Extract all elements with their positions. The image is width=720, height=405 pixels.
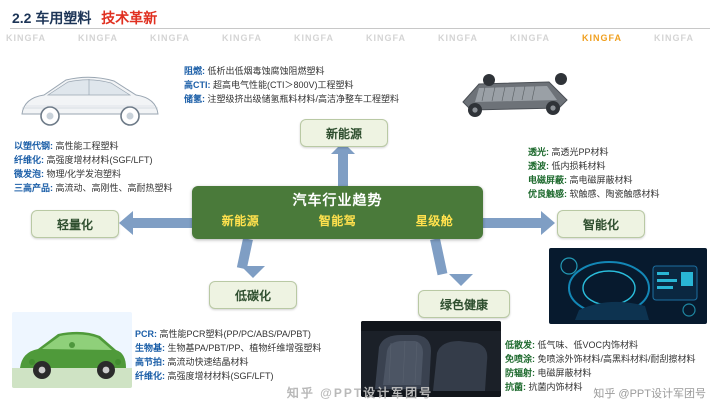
text-row-value: 高透光PP材料	[552, 147, 609, 157]
hub-tag-0: 新能源	[222, 212, 260, 229]
watermark-8: KINGFA	[582, 33, 622, 43]
text-block-intelligent: 透光: 高透光PP材料透波: 低内损耗材料电磁屏蔽: 高电磁屏蔽材料优良触感: …	[528, 145, 660, 201]
text-row-value: 生物基PA/PBT/PP、植物纤维增强塑料	[168, 343, 322, 353]
arrow-hub-to-intelligent	[483, 218, 541, 228]
arrow-hub-to-green-health	[430, 238, 447, 275]
text-row-value: 高电磁屏蔽材料	[570, 175, 633, 185]
text-row-key: 高CTI:	[184, 80, 213, 90]
hub-title: 汽车行业趋势	[192, 190, 483, 210]
text-row-key: 电磁屏蔽:	[528, 175, 570, 185]
node-new-energy[interactable]: 新能源	[300, 119, 388, 147]
node-label: 智能化	[583, 216, 619, 233]
watermark-2: KINGFA	[150, 33, 190, 43]
node-label: 轻量化	[57, 216, 93, 233]
text-row-value: 高强度增材材料(SGF/LFT)	[168, 371, 274, 381]
image-ev-chassis	[449, 62, 579, 124]
watermark-5: KINGFA	[366, 33, 406, 43]
text-row-key: 低散发:	[505, 340, 538, 350]
watermark-0: KINGFA	[6, 33, 46, 43]
text-row-key: 纤维化:	[135, 371, 168, 381]
hub-tag-2: 星级舱	[416, 212, 454, 229]
section-number: 2.2	[12, 10, 31, 26]
arrowhead-intelligent	[541, 211, 555, 235]
text-row-key: PCR:	[135, 329, 160, 339]
text-row: 优良触感: 软触感、陶瓷触感材料	[528, 187, 660, 201]
text-row: 高CTI: 超高电气性能(CTI＞800V)工程塑料	[184, 78, 399, 92]
image-car-wireframe	[14, 62, 164, 132]
node-label: 新能源	[326, 125, 362, 142]
zhihu-credit: 知乎 @PPT设计军团号	[593, 385, 706, 401]
node-label: 绿色健康	[440, 296, 488, 313]
text-row-value: 高流动快速结晶材料	[168, 357, 249, 367]
text-row-value: 高流动、高刚性、高耐热塑料	[56, 183, 173, 193]
node-low-carbon[interactable]: 低碳化	[209, 281, 297, 309]
text-row: 高节拍: 高流动快速结晶材料	[135, 355, 321, 369]
arrow-hub-to-low-carbon	[237, 238, 253, 269]
text-row: 纤维化: 高强度增材材料(SGF/LFT)	[14, 153, 173, 167]
text-row: 微发泡: 物理/化学发泡塑料	[14, 167, 173, 181]
node-green-health[interactable]: 绿色健康	[418, 290, 510, 318]
text-row-value: 物理/化学发泡塑料	[47, 169, 122, 179]
text-row: 阻燃: 低析出低烟毒蚀腐蚀阻燃塑料	[184, 64, 399, 78]
center-hub: 汽车行业趋势 新能源 智能驾 星级舱	[192, 186, 483, 239]
text-row-value: 高性能工程塑料	[56, 141, 119, 151]
text-row-value: 免喷涂外饰材料/高黑料材料/耐刮擦材料	[538, 354, 696, 364]
title-divider	[10, 28, 710, 29]
text-row-key: 阻燃:	[184, 66, 208, 76]
page-title: 2.2 车用塑料 技术革新	[12, 8, 157, 28]
watermark-4: KINGFA	[294, 33, 334, 43]
text-row-key: 高节拍:	[135, 357, 168, 367]
title-main: 车用塑料	[35, 10, 91, 26]
arrowhead-lightweight	[119, 211, 133, 235]
watermark-9: KINGFA	[654, 33, 694, 43]
image-hud-cockpit	[549, 248, 707, 324]
text-block-low-carbon: PCR: 高性能PCR塑料(PP/PC/ABS/PA/PBT)生物基: 生物基P…	[135, 327, 321, 383]
watermark-7: KINGFA	[510, 33, 550, 43]
text-row-value: 高性能PCR塑料(PP/PC/ABS/PA/PBT)	[160, 329, 311, 339]
text-row: PCR: 高性能PCR塑料(PP/PC/ABS/PA/PBT)	[135, 327, 321, 341]
text-row-key: 以塑代钢:	[14, 141, 56, 151]
text-row-key: 生物基:	[135, 343, 168, 353]
text-row: 纤维化: 高强度增材材料(SGF/LFT)	[135, 369, 321, 383]
text-row: 防辐射: 电磁屏蔽材料	[505, 366, 696, 380]
hub-tag-1: 智能驾	[319, 212, 357, 229]
text-row-value: 超高电气性能(CTI＞800V)工程塑料	[213, 80, 354, 90]
arrowhead-low-carbon	[241, 266, 265, 278]
text-row-key: 防辐射:	[505, 368, 538, 378]
image-green-grass-car	[12, 312, 132, 388]
text-row: 三高产品: 高流动、高刚性、高耐热塑料	[14, 181, 173, 195]
arrow-hub-to-new-energy	[338, 152, 348, 186]
text-block-new-energy: 阻燃: 低析出低烟毒蚀腐蚀阻燃塑料高CTI: 超高电气性能(CTI＞800V)工…	[184, 64, 399, 106]
watermark-3: KINGFA	[222, 33, 262, 43]
text-row-value: 软触感、陶瓷触感材料	[570, 189, 660, 199]
arrow-hub-to-lightweight	[133, 218, 192, 228]
text-row-value: 低内损耗材料	[552, 161, 606, 171]
title-highlight: 技术革新	[101, 10, 157, 26]
text-row-value: 高强度增材材料(SGF/LFT)	[47, 155, 153, 165]
node-lightweight[interactable]: 轻量化	[31, 210, 119, 238]
hub-tags: 新能源 智能驾 星级舱	[192, 212, 483, 229]
text-row-key: 纤维化:	[14, 155, 47, 165]
text-row-key: 微发泡:	[14, 169, 47, 179]
text-row-key: 免喷涂:	[505, 354, 538, 364]
text-row-value: 电磁屏蔽材料	[538, 368, 592, 378]
text-row-key: 透波:	[528, 161, 552, 171]
text-row: 免喷涂: 免喷涂外饰材料/高黑料材料/耐刮擦材料	[505, 352, 696, 366]
text-row-key: 储氢:	[184, 94, 208, 104]
text-row-key: 透光:	[528, 147, 552, 157]
text-row: 生物基: 生物基PA/PBT/PP、植物纤维增强塑料	[135, 341, 321, 355]
text-row-value: 低析出低烟毒蚀腐蚀阻燃塑料	[208, 66, 325, 76]
text-row-value: 低气味、低VOC内饰材料	[538, 340, 639, 350]
slide-root: 2.2 车用塑料 技术革新 KINGFAKINGFAKINGFAKINGFAKI…	[0, 0, 720, 405]
text-row-key: 三高产品:	[14, 183, 56, 193]
text-row: 透波: 低内损耗材料	[528, 159, 660, 173]
node-label: 低碳化	[235, 287, 271, 304]
text-row: 电磁屏蔽: 高电磁屏蔽材料	[528, 173, 660, 187]
watermark-6: KINGFA	[438, 33, 478, 43]
text-row: 储氢: 注塑级挤出级储氢瓶料材料/高洁净整车工程塑料	[184, 92, 399, 106]
arrowhead-green-health	[449, 274, 473, 286]
text-block-lightweight: 以塑代钢: 高性能工程塑料纤维化: 高强度增材材料(SGF/LFT)微发泡: 物…	[14, 139, 173, 195]
watermark-1: KINGFA	[78, 33, 118, 43]
text-row: 以塑代钢: 高性能工程塑料	[14, 139, 173, 153]
text-row-value: 注塑级挤出级储氢瓶料材料/高洁净整车工程塑料	[208, 94, 400, 104]
text-row-key: 优良触感:	[528, 189, 570, 199]
text-row: 低散发: 低气味、低VOC内饰材料	[505, 338, 696, 352]
text-row: 透光: 高透光PP材料	[528, 145, 660, 159]
watermark-strip: KINGFAKINGFAKINGFAKINGFAKINGFAKINGFAKING…	[0, 33, 720, 49]
node-intelligent[interactable]: 智能化	[557, 210, 645, 238]
